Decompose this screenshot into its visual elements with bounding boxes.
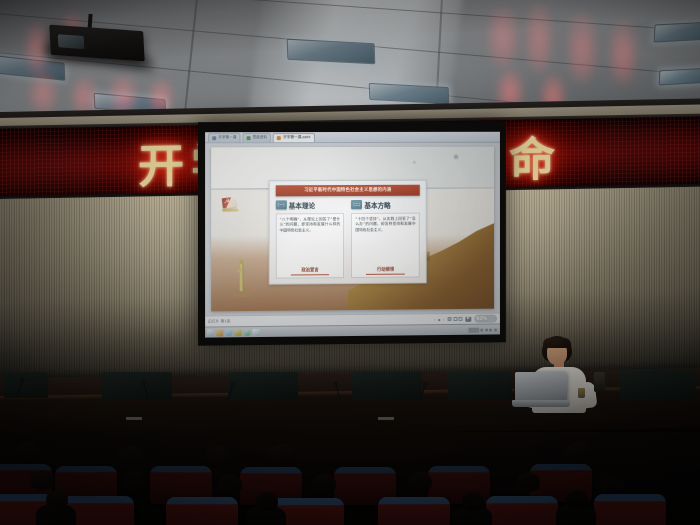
tray-icon[interactable] [480, 328, 483, 331]
fit-to-window-icon[interactable] [488, 316, 495, 322]
audience-head [256, 492, 278, 511]
view-mode-buttons[interactable] [448, 317, 463, 321]
audience-head [30, 470, 54, 490]
sparkle-icon [413, 161, 416, 164]
audience-head [118, 446, 144, 468]
powerpoint-icon [277, 136, 281, 140]
zoom-control[interactable]: 62% [474, 315, 497, 323]
slide-column-2: （二） 基本方略 “十四个坚持”，从实践上回答了“怎么办”的问题，即怎样坚持和发… [351, 199, 419, 278]
presenter-fringe [543, 338, 571, 348]
window-icon [212, 136, 216, 140]
tray-panel-icon[interactable] [468, 327, 479, 332]
tray-icon[interactable] [485, 328, 488, 331]
current-slide-indicator: ▪ [438, 317, 441, 322]
column-badge: （一） [276, 200, 287, 209]
column-badge: （二） [351, 200, 362, 209]
tab-label: 思政资料 [253, 136, 267, 140]
auditorium-seat [486, 496, 558, 525]
ceiling-light-panel [660, 69, 700, 85]
panel-chair [228, 372, 298, 400]
column-footer-label: 行动纲领 [366, 267, 405, 275]
panel-chair [4, 372, 48, 398]
windows-start-icon[interactable] [207, 329, 214, 336]
desk-cup [578, 388, 585, 398]
taskbar-icons[interactable] [207, 328, 260, 336]
panel-chair [620, 370, 696, 400]
application-tab-bar[interactable]: 开学第一课 思政资料 开学第一课.pptx [205, 132, 500, 144]
normal-view-icon[interactable] [448, 317, 452, 321]
slide: ★ ☭ [211, 147, 494, 312]
reading-view-icon[interactable] [458, 317, 462, 321]
column-heading: （一） 基本理论 [276, 200, 345, 210]
slide-viewport[interactable]: ★ ☭ [205, 143, 500, 316]
audience-head [46, 490, 68, 509]
led-reflection [524, 2, 554, 74]
desk-nameplate [378, 417, 394, 420]
laptop-base [512, 400, 570, 407]
audience-seating [0, 432, 700, 525]
led-reflection [566, 10, 598, 84]
antivirus-icon[interactable] [244, 329, 251, 336]
folder-icon [247, 136, 251, 140]
auditorium-seat [166, 497, 238, 525]
media-player-icon[interactable] [234, 329, 241, 336]
tray-icon[interactable] [489, 328, 492, 331]
slide-card-title: 习近平新时代中国特色社会主义思想的内涵 [276, 184, 420, 196]
column-footer-label: 政治宣言 [291, 268, 330, 276]
next-slide-icon[interactable]: › [443, 317, 445, 322]
tab-label: 开学第一课.pptx [283, 136, 310, 140]
browser-icon[interactable] [225, 329, 232, 336]
desk-equipment [594, 372, 605, 392]
tab-2[interactable]: 开学第一课.pptx [273, 133, 314, 142]
sorter-view-icon[interactable] [453, 317, 457, 321]
audience-head [462, 492, 484, 511]
audience-head [268, 444, 294, 466]
auditorium-seat [594, 494, 666, 525]
audience-head [408, 472, 432, 492]
column-title: 基本理论 [289, 200, 315, 210]
laptop-lid [515, 372, 567, 401]
audience-head [600, 476, 624, 496]
slide-column-1: （一） 基本理论 “八个明确”，从理论上回答了“是什么”的问题，即坚持和发展什么… [276, 200, 345, 279]
system-tray[interactable] [468, 327, 498, 332]
column-heading: （二） 基本方略 [351, 199, 419, 209]
lecture-hall-scene: 开学第一…和使命 开学第一课 思政资料 开学第一课.pptx [0, 0, 700, 525]
slide-columns: （一） 基本理论 “八个明确”，从理论上回答了“是什么”的问题，即坚持和发展什么… [276, 199, 420, 278]
audience-head [124, 472, 148, 492]
column-box: “八个明确”，从理论上回答了“是什么”的问题，即坚持和发展什么样的中国特色社会主… [276, 213, 345, 279]
tab-0[interactable]: 开学第一课 [208, 133, 240, 142]
desk-nameplate [126, 417, 142, 420]
slide-nav-controls[interactable]: ‹ ▪ › [434, 317, 445, 322]
led-reflection [28, 72, 58, 114]
audience-head [218, 474, 242, 494]
tray-icon[interactable] [494, 328, 497, 331]
led-reflection [608, 18, 638, 86]
slideshow-play-button[interactable]: ▶ [465, 316, 471, 321]
party-emblem-icon: ☭ [223, 196, 239, 211]
audience-head [565, 442, 591, 464]
audience-head [205, 446, 231, 468]
star-icon: ★ [452, 153, 461, 162]
column-box: “十四个坚持”，从实践上回答了“怎么办”的问题，即怎样坚持和发展中国特色社会主义… [351, 212, 419, 278]
auditorium-seat [378, 497, 450, 525]
column-body-text: “十四个坚持”，从实践上回答了“怎么办”的问题，即怎样坚持和发展中国特色社会主义… [355, 216, 415, 233]
panel-chair [102, 372, 172, 400]
powerpoint-taskbar-icon[interactable] [253, 328, 260, 335]
windows-taskbar[interactable] [205, 323, 500, 337]
led-reflection [486, 6, 520, 68]
tab-label: 开学第一课 [218, 136, 236, 140]
previous-slide-icon[interactable]: ‹ [434, 317, 436, 322]
tab-1[interactable]: 思政资料 [242, 133, 271, 142]
audience-head [14, 442, 40, 464]
audience-head [566, 490, 588, 509]
ceiling-light-panel [655, 22, 700, 41]
presenter-laptop [512, 372, 570, 408]
projected-desktop: 开学第一课 思政资料 开学第一课.pptx ★ [205, 132, 500, 338]
panel-chair [448, 372, 512, 400]
panel-chair [352, 372, 422, 400]
projection-screen: 开学第一课 思政资料 开学第一课.pptx ★ [198, 122, 506, 346]
slide-content-card: 习近平新时代中国特色社会主义思想的内涵 （一） 基本理论 “八个明确”，从理论上… [268, 179, 426, 284]
status-bar-controls[interactable]: ‹ ▪ › ▶ 62% [434, 315, 497, 324]
monument-statue-artwork [237, 255, 246, 291]
file-explorer-icon[interactable] [216, 329, 223, 336]
slide-counter: 幻灯片 第1张 [208, 319, 231, 324]
column-body-text: “八个明确”，从理论上回答了“是什么”的问题，即坚持和发展什么样的中国特色社会主… [280, 217, 341, 234]
audience-head [312, 474, 336, 494]
zoom-level-value: 62% [476, 316, 487, 321]
audience-head [516, 472, 540, 492]
column-title: 基本方略 [364, 199, 390, 209]
